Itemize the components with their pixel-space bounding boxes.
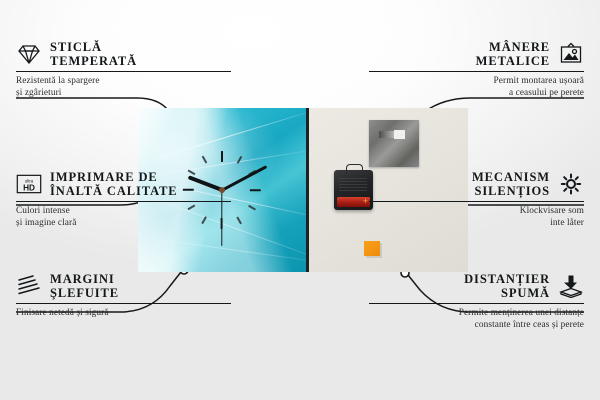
callout-edge-title-line1: MARGINI	[50, 272, 115, 286]
callout-glass-title-line2: TEMPERATĂ	[50, 54, 137, 68]
callout-glass-title-line1: STICLĂ	[50, 40, 102, 54]
callout-mechanism-title-line2: SILENȚIOS	[475, 184, 551, 198]
callout-edge-subtitle-line1: Finisare netedă și sigură	[16, 308, 109, 318]
callout-handle: MÂNERE METALICE Permit montarea ușoară a…	[369, 40, 584, 99]
callout-mechanism: MECANISM SILENȚIOS Klockvisare som inte …	[369, 170, 584, 229]
callout-print-subtitle-line1: Culori intense	[16, 206, 70, 216]
callout-glass: STICLĂ TEMPERATĂ Rezistentă la spargere …	[16, 40, 231, 99]
callout-mechanism-subtitle-line1: Klockvisare som	[520, 206, 584, 216]
metal-hanger-plate	[369, 120, 419, 167]
callout-foam-subtitle-line2: constante între ceas și perete	[475, 320, 584, 330]
gear-icon	[558, 172, 584, 196]
clock-mechanism	[334, 170, 373, 210]
callout-edge-title-line2: ŞLEFUITE	[50, 286, 119, 300]
svg-text:ultra: ultra	[25, 178, 34, 183]
ultra-hd-icon: ultra HD	[16, 172, 42, 196]
diamond-icon	[16, 42, 42, 66]
callout-print-title-line2: ÎNALTĂ CALITATE	[50, 184, 178, 198]
callout-foam-title-line2: SPUMĂ	[501, 286, 550, 300]
foam-spacer	[364, 241, 380, 256]
callout-mechanism-subtitle-line2: inte låter	[550, 218, 584, 228]
svg-text:HD: HD	[23, 184, 35, 193]
callout-edge: MARGINI ŞLEFUITE Finisare netedă și sigu…	[16, 272, 231, 320]
infographic-stage: STICLĂ TEMPERATĂ Rezistentă la spargere …	[0, 0, 600, 400]
picture-hanger-icon	[558, 42, 584, 66]
callout-foam: DISTANȚIER SPUMĂ Permite menținerea unei…	[369, 272, 584, 331]
battery	[337, 197, 370, 207]
callout-glass-subtitle-line1: Rezistentă la spargere	[16, 76, 100, 86]
callout-handle-title-line2: METALICE	[476, 54, 550, 68]
callout-glass-subtitle-line2: și zgârieturi	[16, 88, 61, 98]
callout-mechanism-title-line1: MECANISM	[472, 170, 550, 184]
callout-handle-subtitle-line2: a ceasului pe perete	[509, 88, 584, 98]
hanger-slot	[379, 131, 405, 138]
callout-handle-subtitle-line1: Permit montarea ușoară	[494, 76, 585, 86]
callout-foam-subtitle-line1: Permite menținerea unei distanțe	[459, 308, 584, 318]
callout-print-subtitle-line2: și imagine clară	[16, 218, 76, 228]
callout-handle-title-line1: MÂNERE	[489, 40, 550, 54]
mechanism-bail	[346, 164, 363, 174]
callout-print-title-line1: IMPRIMARE DE	[50, 170, 158, 184]
foam-spacer-icon	[558, 274, 584, 298]
callout-print: ultra HD IMPRIMARE DE ÎNALTĂ CALITATE Cu…	[16, 170, 231, 229]
callout-foam-title-line1: DISTANȚIER	[464, 272, 550, 286]
mechanism-texture	[339, 178, 367, 192]
polished-edge-icon	[16, 274, 42, 298]
